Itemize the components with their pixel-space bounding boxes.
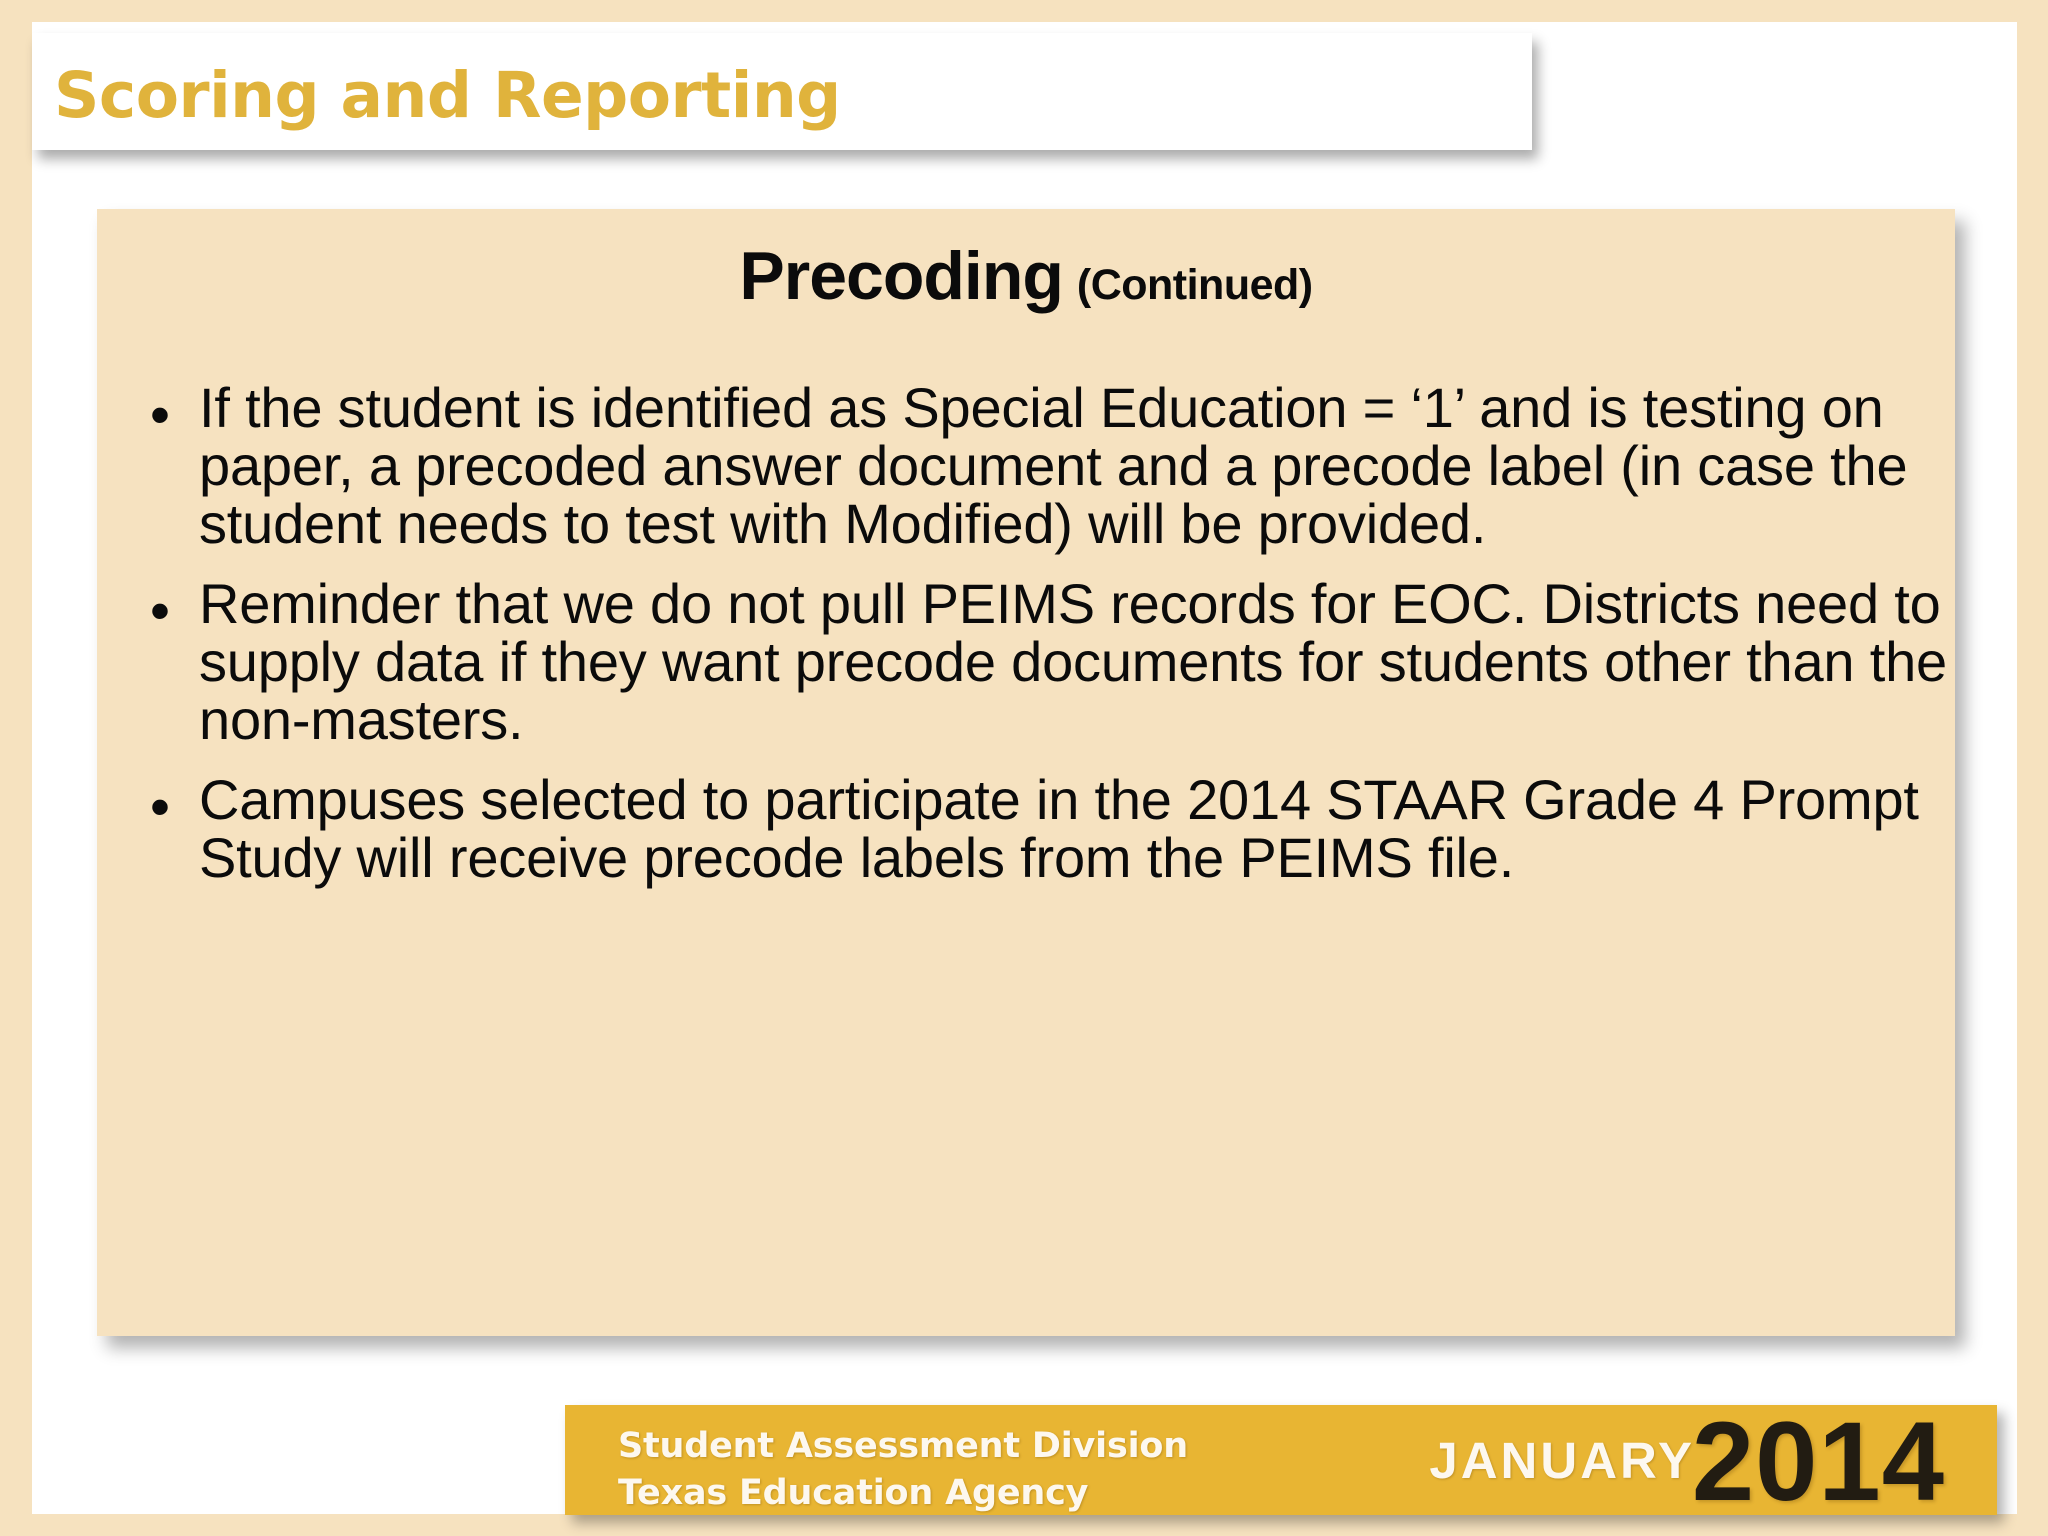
bullet-marker-icon: • (121, 379, 199, 444)
list-item: • If the student is identified as Specia… (121, 379, 1955, 553)
content-heading: Precoding(Continued) (97, 237, 1955, 315)
list-item-text: If the student is identified as Special … (199, 379, 1955, 553)
bullet-list: • If the student is identified as Specia… (121, 379, 1955, 909)
footer-organization: Student Assessment Division Texas Educat… (618, 1423, 1188, 1516)
slide-frame: Scoring and Reporting Precoding(Continue… (0, 0, 2048, 1536)
list-item-text: Campuses selected to participate in the … (199, 771, 1955, 887)
slide-title-bar: Scoring and Reporting (32, 33, 1532, 150)
bullet-marker-icon: • (121, 575, 199, 640)
footer-year: 2014 (1692, 1397, 1945, 1526)
list-item: • Campuses selected to participate in th… (121, 771, 1955, 887)
list-item: • Reminder that we do not pull PEIMS rec… (121, 575, 1955, 749)
content-heading-main: Precoding (739, 238, 1063, 314)
page-title: Scoring and Reporting (54, 59, 841, 132)
list-item-text: Reminder that we do not pull PEIMS recor… (199, 575, 1955, 749)
footer-org-line1: Student Assessment Division (618, 1423, 1188, 1470)
footer-org-line2: Texas Education Agency (618, 1470, 1188, 1517)
bullet-marker-icon: • (121, 771, 199, 836)
slide-footer-bar: Student Assessment Division Texas Educat… (565, 1405, 1997, 1515)
footer-month: JANUARY (1429, 1431, 1695, 1490)
content-panel: Precoding(Continued) • If the student is… (97, 209, 1955, 1336)
content-heading-sub: (Continued) (1077, 261, 1313, 309)
